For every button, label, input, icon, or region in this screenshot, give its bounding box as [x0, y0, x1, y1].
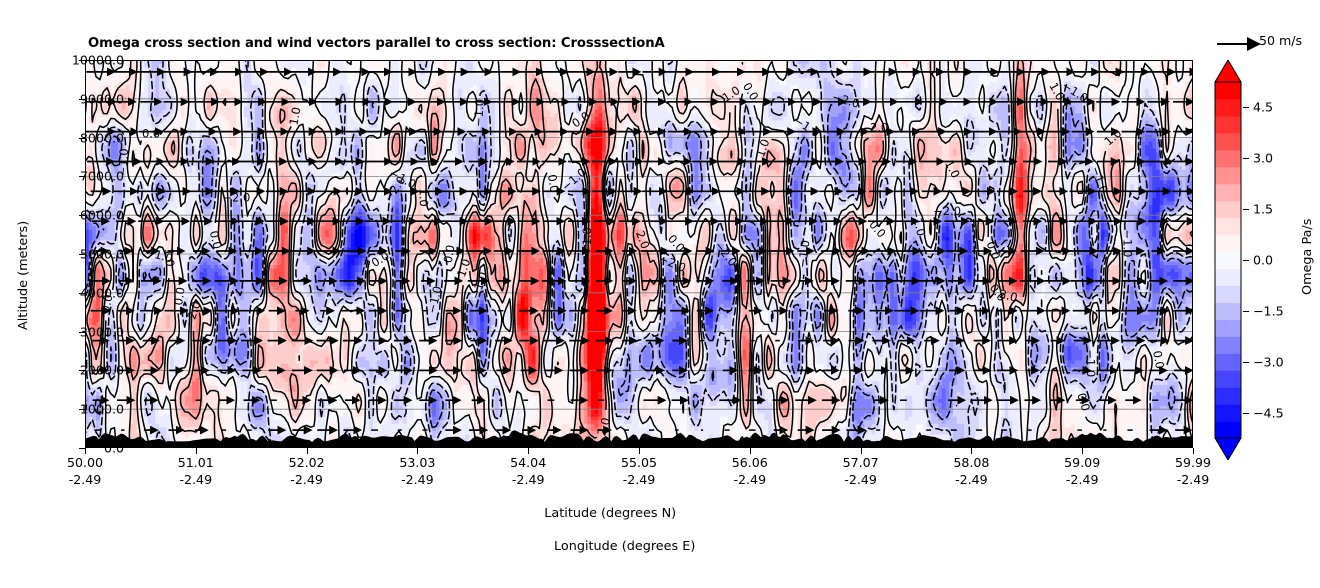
omega-fill-cell: [421, 402, 425, 406]
omega-fill-cell: [1119, 413, 1145, 417]
omega-fill-cell: [953, 430, 965, 434]
omega-fill-cell: [809, 353, 813, 357]
omega-fill-cell: [118, 395, 130, 399]
omega-fill-cell: [188, 392, 192, 396]
omega-fill-cell: [532, 353, 536, 357]
omega-fill-cell: [532, 413, 540, 417]
omega-fill-cell: [824, 363, 828, 367]
omega-fill-cell: [654, 388, 662, 392]
omega-fill-cell: [1175, 392, 1183, 396]
omega-fill-cell: [151, 370, 163, 374]
omega-fill-cell: [717, 346, 729, 350]
omega-fill-cell: [912, 409, 924, 413]
omega-fill-cell: [569, 346, 573, 350]
omega-fill-cell: [203, 377, 218, 381]
omega-fill-cell: [432, 377, 440, 381]
omega-fill-cell: [358, 360, 370, 364]
omega-fill-cell: [794, 349, 798, 353]
omega-fill-cell: [794, 427, 798, 431]
omega-fill-cell: [222, 402, 234, 406]
omega-fill-cell: [986, 349, 990, 353]
omega-fill-cell: [794, 385, 798, 389]
omega-fill-cell: [1071, 356, 1083, 360]
omega-fill-cell: [403, 346, 411, 350]
omega-fill-cell: [222, 356, 226, 360]
omega-fill-cell: [853, 409, 872, 413]
omega-fill-cell: [753, 360, 757, 364]
omega-fill-cell: [218, 385, 222, 389]
omega-fill-cell: [857, 392, 861, 396]
omega-fill-cell: [720, 420, 739, 424]
omega-fill-cell: [857, 374, 861, 378]
omega-fill-cell: [222, 392, 237, 396]
omega-fill-cell: [329, 423, 337, 427]
omega-fill-cell: [473, 409, 485, 413]
omega-fill-cell: [794, 374, 798, 378]
omega-fill-cell: [332, 356, 344, 360]
omega-fill-cell: [1064, 423, 1072, 427]
omega-fill-cell: [1023, 420, 1027, 424]
omega-fill-cell: [890, 399, 898, 403]
omega-fill-cell: [875, 363, 883, 367]
omega-fill-cell: [569, 409, 573, 413]
omega-fill-cell: [879, 423, 883, 427]
omega-fill-cell: [155, 385, 159, 389]
omega-fill-cell: [632, 416, 640, 420]
omega-fill-cell: [927, 356, 931, 360]
omega-fill-cell: [414, 430, 426, 434]
omega-fill-cell: [949, 360, 953, 364]
omega-fill-cell: [240, 388, 248, 392]
omega-fill-cell: [982, 395, 986, 399]
omega-fill-cell: [838, 430, 846, 434]
omega-fill-cell: [783, 409, 787, 413]
omega-fill-cell: [299, 430, 307, 434]
omega-fill-cell: [543, 392, 547, 396]
omega-fill-cell: [151, 423, 159, 427]
omega-fill-cell: [513, 402, 536, 406]
omega-fill-cell: [1001, 360, 1009, 364]
omega-fill-cell: [358, 356, 366, 360]
omega-fill-cell: [584, 353, 588, 357]
omega-fill-cell: [565, 385, 577, 389]
omega-fill-cell: [942, 360, 946, 364]
omega-fill-cell: [794, 356, 798, 360]
omega-fill-cell: [617, 409, 629, 413]
omega-fill-cell: [643, 363, 651, 367]
omega-fill-cell: [923, 377, 931, 381]
omega-fill-cell: [366, 423, 370, 427]
omega-fill-cell: [454, 402, 473, 406]
omega-fill-cell: [399, 395, 407, 399]
omega-fill-cell: [931, 385, 935, 389]
omega-fill-cell: [380, 427, 410, 431]
omega-fill-cell: [236, 356, 244, 360]
omega-fill-cell: [979, 413, 987, 417]
omega-fill-cell: [639, 381, 654, 385]
omega-fill-cell: [443, 349, 447, 353]
omega-fill-cell: [946, 392, 950, 396]
omega-fill-cell: [1171, 349, 1179, 353]
omega-fill-cell: [329, 430, 337, 434]
omega-fill-cell: [717, 374, 729, 378]
omega-fill-cell: [506, 356, 510, 360]
omega-fill-cell: [964, 423, 979, 427]
omega-fill-cell: [303, 409, 315, 413]
omega-fill-cell: [436, 409, 440, 413]
omega-fill-cell: [971, 381, 979, 385]
omega-fill-cell: [591, 423, 595, 427]
omega-fill-cell: [377, 413, 389, 417]
omega-fill-cell: [1127, 434, 1139, 438]
omega-fill-cell: [1141, 381, 1145, 385]
omega-fill-cell: [377, 360, 389, 364]
omega-fill-cell: [554, 430, 562, 434]
omega-fill-cell: [222, 409, 234, 413]
omega-fill-cell: [377, 377, 385, 381]
omega-fill-cell: [561, 346, 565, 350]
omega-fill-cell: [96, 420, 100, 424]
omega-fill-cell: [554, 413, 577, 417]
omega-fill-cell: [229, 356, 233, 360]
omega-fill-cell: [1130, 392, 1142, 396]
omega-fill-cell: [554, 356, 558, 360]
omega-fill-cell: [765, 381, 780, 385]
omega-fill-cell: [550, 388, 565, 392]
omega-fill-cell: [1067, 353, 1071, 357]
omega-fill-cell: [916, 377, 924, 381]
cross-section-plot[interactable]: −2.0−2.0−2.0−2.0−2.0−2.0−1.0−1.0−1.0−1.0…: [85, 60, 1193, 448]
omega-fill-cell: [262, 434, 281, 438]
omega-fill-cell: [979, 349, 983, 353]
omega-fill-cell: [310, 434, 314, 438]
omega-fill-cell: [222, 420, 234, 424]
omega-fill-cell: [118, 392, 130, 396]
omega-fill-cell: [905, 416, 909, 420]
omega-fill-cell: [979, 420, 987, 424]
omega-fill-cell: [657, 395, 665, 399]
omega-fill-cell: [938, 385, 950, 389]
omega-fill-cell: [399, 420, 403, 424]
omega-fill-cell: [196, 377, 200, 381]
omega-fill-cell: [768, 427, 772, 431]
omega-fill-cell: [1042, 356, 1046, 360]
omega-fill-cell: [159, 377, 163, 381]
omega-fill-cell: [827, 423, 835, 427]
omega-fill-cell: [266, 356, 296, 360]
omega-fill-cell: [632, 356, 640, 360]
omega-fill-cell: [236, 349, 248, 353]
omega-fill-cell: [661, 427, 673, 431]
omega-fill-cell: [159, 385, 163, 389]
omega-fill-cell: [403, 430, 407, 434]
omega-fill-cell: [591, 402, 599, 406]
omega-fill-cell: [587, 363, 602, 367]
omega-fill-cell: [347, 392, 355, 396]
omega-fill-cell: [709, 363, 728, 367]
omega-fill-cell: [1123, 374, 1131, 378]
omega-fill-cell: [587, 370, 591, 374]
omega-fill-cell: [236, 381, 248, 385]
omega-fill-cell: [739, 423, 743, 427]
omega-fill-cell: [299, 385, 311, 389]
omega-fill-cell: [310, 402, 314, 406]
omega-fill-cell: [1138, 381, 1142, 385]
omega-fill-cell: [188, 388, 192, 392]
omega-fill-cell: [347, 374, 351, 378]
omega-fill-cell: [672, 381, 687, 385]
omega-fill-cell: [665, 356, 669, 360]
omega-fill-cell: [395, 402, 399, 406]
omega-fill-cell: [299, 388, 307, 392]
omega-fill-cell: [805, 392, 831, 396]
omega-fill-cell: [698, 374, 702, 378]
omega-fill-cell: [432, 360, 436, 364]
omega-fill-cell: [587, 374, 591, 378]
omega-fill-cell: [968, 374, 976, 378]
omega-fill-cell: [554, 395, 566, 399]
omega-fill-cell: [779, 385, 787, 389]
omega-fill-cell: [229, 381, 233, 385]
omega-fill-cell: [1030, 420, 1038, 424]
omega-fill-cell: [517, 370, 521, 374]
omega-fill-cell: [694, 346, 698, 350]
omega-fill-cell: [901, 374, 909, 378]
omega-fill-cell: [506, 360, 510, 364]
omega-fill-cell: [377, 423, 381, 427]
omega-fill-cell: [1152, 423, 1160, 427]
omega-fill-cell: [1053, 353, 1057, 357]
omega-fill-cell: [776, 374, 784, 378]
omega-fill-cell: [994, 349, 1002, 353]
omega-fill-cell: [554, 360, 566, 364]
omega-fill-cell: [425, 363, 429, 367]
omega-fill-cell: [957, 353, 961, 357]
omega-fill-cell: [432, 420, 436, 424]
omega-fill-cell: [1130, 356, 1134, 360]
omega-fill-cell: [262, 416, 266, 420]
omega-fill-cell: [107, 416, 111, 420]
omega-fill-cell: [886, 427, 890, 431]
omega-fill-cell: [528, 353, 532, 357]
omega-fill-cell: [669, 388, 677, 392]
omega-fill-cell: [148, 430, 156, 434]
omega-fill-cell: [532, 356, 536, 360]
omega-fill-cell: [709, 434, 713, 438]
omega-fill-cell: [155, 356, 163, 360]
omega-fill-cell: [270, 416, 274, 420]
omega-fill-cell: [665, 346, 669, 350]
omega-fill-cell: [166, 392, 170, 396]
omega-fill-cell: [728, 430, 740, 434]
omega-fill-cell: [909, 381, 917, 385]
omega-fill-cell: [765, 413, 773, 417]
omega-fill-cell: [654, 353, 658, 357]
omega-fill-cell: [1001, 353, 1005, 357]
omega-fill-cell: [587, 381, 591, 385]
omega-fill-cell: [340, 388, 363, 392]
omega-fill-cell: [203, 423, 211, 427]
omega-fill-cell: [1115, 349, 1119, 353]
omega-fill-cell: [864, 434, 883, 438]
omega-fill-cell: [351, 402, 355, 406]
omega-fill-cell: [1119, 427, 1127, 431]
omega-fill-cell: [1152, 409, 1171, 413]
omega-fill-cell: [613, 370, 625, 374]
omega-fill-cell: [454, 363, 466, 367]
omega-fill-cell: [1175, 385, 1179, 389]
omega-fill-cell: [753, 402, 757, 406]
omega-fill-cell: [591, 399, 599, 403]
omega-fill-cell: [609, 430, 624, 434]
omega-fill-cell: [1008, 349, 1020, 353]
omega-fill-cell: [1053, 416, 1061, 420]
omega-fill-cell: [705, 402, 709, 406]
omega-fill-cell: [554, 416, 573, 420]
omega-fill-cell: [646, 430, 650, 434]
omega-fill-cell: [569, 349, 573, 353]
omega-fill-cell: [883, 413, 891, 417]
omega-fill-cell: [779, 363, 787, 367]
omega-fill-cell: [768, 423, 772, 427]
omega-fill-cell: [443, 356, 455, 360]
omega-fill-cell: [591, 377, 603, 381]
omega-fill-cell: [351, 395, 355, 399]
omega-fill-cell: [344, 353, 348, 357]
omega-fill-cell: [1189, 370, 1193, 374]
omega-fill-cell: [765, 430, 769, 434]
omega-fill-cell: [1019, 360, 1023, 364]
omega-fill-cell: [536, 399, 540, 403]
omega-fill-cell: [827, 381, 842, 385]
omega-fill-cell: [584, 360, 588, 364]
omega-fill-cell: [587, 409, 591, 413]
omega-fill-cell: [1071, 349, 1083, 353]
omega-fill-cell: [207, 356, 215, 360]
omega-fill-cell: [521, 388, 525, 392]
omega-fill-cell: [207, 434, 211, 438]
omega-fill-cell: [513, 377, 521, 381]
omega-fill-cell: [934, 349, 938, 353]
omega-fill-cell: [1101, 381, 1105, 385]
omega-fill-cell: [1178, 353, 1193, 357]
omega-fill-cell: [957, 395, 983, 399]
omega-fill-cell: [133, 413, 137, 417]
omega-fill-cell: [211, 360, 219, 364]
omega-fill-cell: [691, 388, 703, 392]
omega-fill-cell: [358, 377, 366, 381]
omega-fill-cell: [454, 409, 462, 413]
omega-fill-cell: [794, 416, 798, 420]
omega-fill-cell: [964, 356, 972, 360]
omega-fill-cell: [192, 395, 200, 399]
omega-fill-cell: [938, 399, 946, 403]
omega-fill-cell: [613, 385, 617, 389]
omega-fill-cell: [698, 395, 702, 399]
omega-fill-cell: [233, 416, 241, 420]
omega-fill-cell: [1030, 392, 1045, 396]
omega-fill-cell: [805, 420, 817, 424]
omega-fill-cell: [805, 402, 831, 406]
omega-fill-cell: [979, 353, 983, 357]
omega-fill-cell: [805, 395, 831, 399]
omega-fill-cell: [1001, 395, 1009, 399]
omega-fill-cell: [528, 385, 540, 389]
omega-fill-cell: [1119, 416, 1145, 420]
omega-fill-cell: [1027, 434, 1035, 438]
omega-fill-cell: [979, 423, 987, 427]
omega-fill-cell: [805, 413, 828, 417]
omega-fill-cell: [831, 416, 839, 420]
omega-fill-cell: [525, 349, 529, 353]
omega-fill-cell: [129, 430, 137, 434]
omega-fill-cell: [654, 346, 658, 350]
omega-fill-cell: [521, 409, 536, 413]
omega-fill-cell: [155, 349, 163, 353]
omega-fill-cell: [1141, 392, 1145, 396]
omega-fill-cell: [724, 360, 728, 364]
figure-root: Omega cross section and wind vectors par…: [0, 0, 1320, 526]
omega-fill-cell: [495, 363, 499, 367]
omega-fill-cell: [705, 374, 709, 378]
omega-fill-cell: [857, 370, 861, 374]
omega-fill-cell: [587, 402, 591, 406]
omega-fill-cell: [284, 409, 288, 413]
omega-fill-cell: [1005, 346, 1028, 350]
omega-fill-cell: [1060, 427, 1075, 431]
omega-fill-cell: [536, 409, 540, 413]
omega-fill-cell: [336, 374, 340, 378]
omega-fill-cell: [1012, 423, 1020, 427]
omega-fill-cell: [942, 363, 946, 367]
omega-fill-cell: [325, 360, 329, 364]
omega-fill-cell: [488, 427, 492, 431]
omega-fill-cell: [1097, 385, 1105, 389]
omega-fill-cell: [835, 349, 839, 353]
omega-fill-cell: [218, 349, 222, 353]
omega-fill-cell: [521, 392, 533, 396]
omega-fill-cell: [661, 349, 665, 353]
omega-fill-cell: [1008, 381, 1016, 385]
omega-fill-cell: [425, 353, 429, 357]
omega-fill-cell: [255, 409, 263, 413]
omega-fill-cell: [1012, 356, 1020, 360]
omega-fill-cell: [355, 416, 363, 420]
omega-fill-cell: [669, 363, 684, 367]
omega-fill-cell: [1141, 363, 1149, 367]
omega-fill-cell: [794, 360, 798, 364]
omega-fill-cell: [344, 346, 348, 350]
omega-fill-cell: [351, 430, 355, 434]
omega-fill-cell: [1056, 413, 1060, 417]
omega-fill-cell: [148, 416, 156, 420]
omega-fill-cell: [270, 423, 285, 427]
omega-fill-cell: [1104, 402, 1112, 406]
omega-fill-cell: [447, 377, 451, 381]
omega-fill-cell: [971, 346, 975, 350]
omega-fill-cell: [1119, 423, 1127, 427]
omega-fill-cell: [986, 356, 990, 360]
omega-fill-cell: [1023, 416, 1027, 420]
omega-fill-cell: [946, 395, 950, 399]
omega-fill-cell: [565, 374, 577, 378]
omega-fill-cell: [384, 385, 396, 389]
omega-fill-cell: [654, 356, 658, 360]
omega-fill-cell: [122, 388, 130, 392]
omega-fill-cell: [794, 423, 798, 427]
omega-fill-cell: [1042, 377, 1046, 381]
omega-fill-cell: [547, 385, 566, 389]
